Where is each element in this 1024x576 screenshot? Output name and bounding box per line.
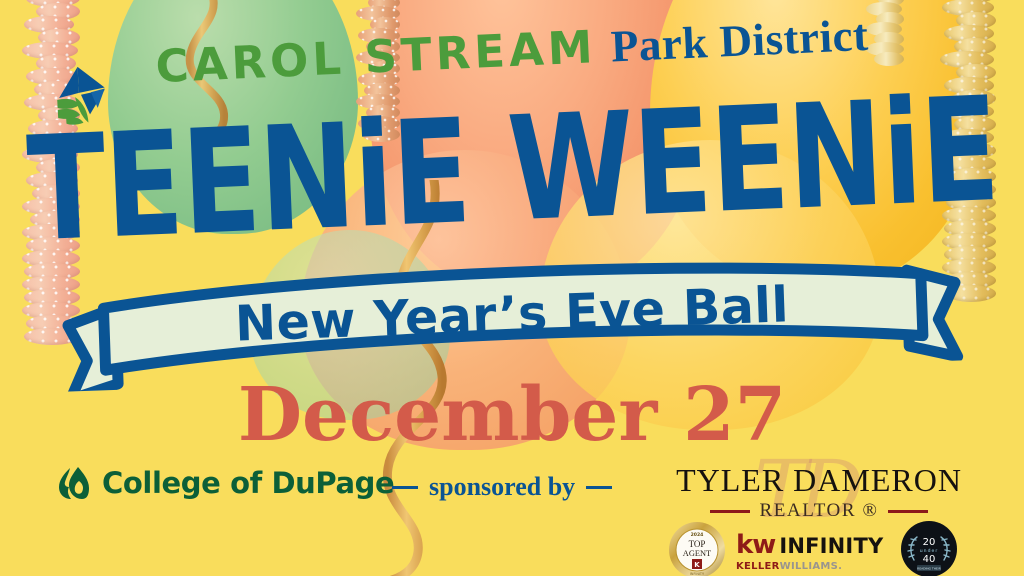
event-poster: CAROL STREAM Park District TEENiE WEENiE… [0, 0, 1024, 576]
event-title-text: TEENiE WEENiE [25, 76, 1001, 263]
badge-top-number: 20 [923, 537, 936, 548]
event-title: TEENiE WEENiE [0, 75, 1024, 238]
sponsored-by-text: sponsored by [429, 472, 575, 502]
realtor-subtitle: REALTOR ® [654, 500, 984, 522]
realtor-subtitle-text: REALTOR ® [759, 500, 878, 522]
tyler-dameron-logo: TD TYLER DAMERON REALTOR ® [654, 454, 984, 574]
keller-williams-infinity-logo: kw INFINITY KELLERWILLIAMS. [736, 532, 883, 572]
top-agent-seal: 2024 TOP AGENT K INFINITY [668, 521, 726, 576]
svg-text:READING THEIR: READING THEIR [917, 567, 941, 571]
realtor-rule-left [710, 510, 750, 513]
rule-right [586, 486, 612, 489]
realtor-badges: 2024 TOP AGENT K INFINITY kw INFINITY KE… [654, 524, 984, 576]
kw-keller-text: KELLER [736, 561, 780, 572]
sponsor-row: College of DuPage sponsored by TD TYLER … [0, 452, 1024, 576]
kw-williams-text: WILLIAMS. [780, 561, 843, 572]
svg-text:AGENT: AGENT [683, 549, 711, 558]
rule-left [392, 486, 418, 489]
svg-text:2024: 2024 [691, 532, 704, 538]
college-of-dupage-flame-icon [58, 466, 90, 500]
twenty-under-forty-badge: 20 under 40 READING THEIR [900, 520, 958, 576]
svg-text:TOP: TOP [689, 539, 706, 549]
sponsored-by-label: sponsored by [392, 472, 612, 502]
college-of-dupage-logo: College of DuPage [58, 466, 394, 500]
city-name: CAROL STREAM [154, 20, 597, 93]
svg-text:INFINITY: INFINITY [690, 572, 705, 576]
kw-mark: kw [736, 532, 775, 558]
badge-bottom-number: 40 [923, 554, 936, 565]
kw-infinity-text: INFINITY [779, 536, 883, 557]
svg-text:K: K [694, 561, 700, 569]
realtor-name: TYLER DAMERON [654, 462, 984, 499]
event-date: December 27 [0, 372, 1024, 458]
realtor-rule-right [888, 510, 928, 513]
college-of-dupage-name: College of DuPage [102, 466, 394, 500]
department-name: Park District [610, 9, 870, 71]
